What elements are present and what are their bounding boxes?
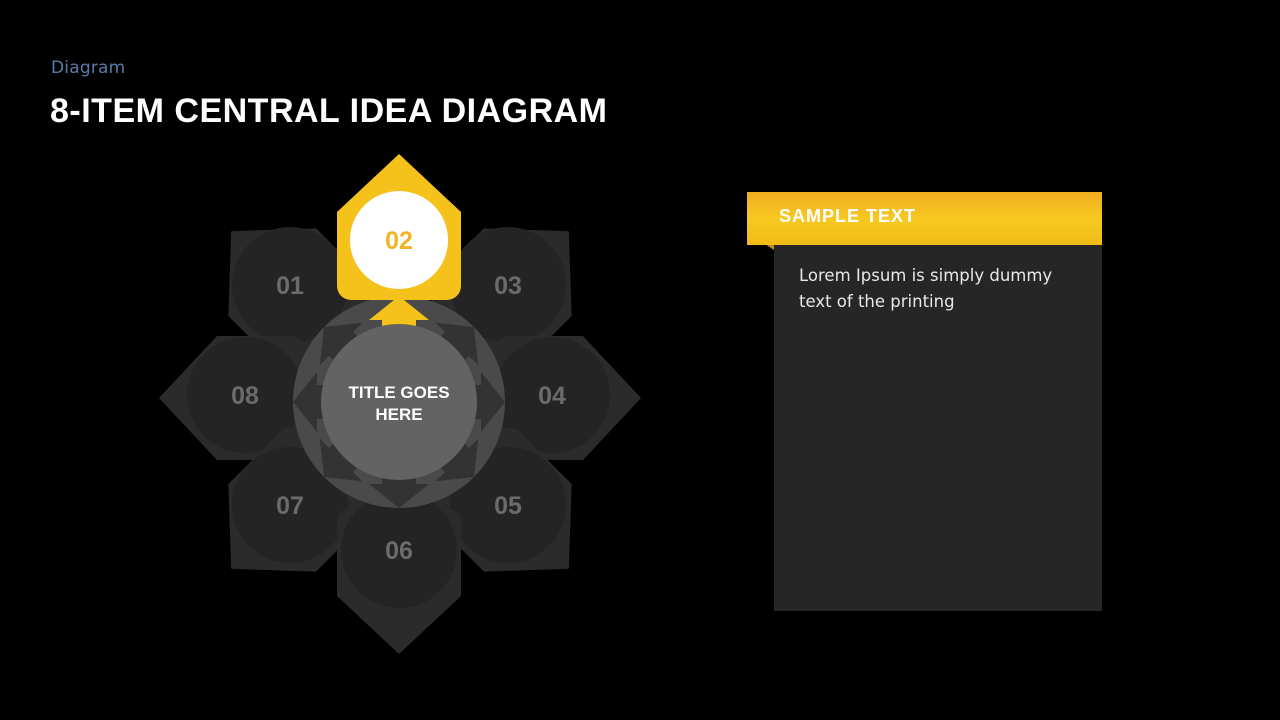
node-number-02: 02 bbox=[385, 227, 413, 255]
diagram-hub: TITLE GOES HERE bbox=[293, 296, 505, 508]
node-number-01: 01 bbox=[276, 272, 304, 300]
node-number-04: 04 bbox=[538, 382, 566, 410]
hub-title-line2: HERE bbox=[375, 405, 422, 424]
card-heading: SAMPLE TEXT bbox=[779, 206, 916, 227]
card-body-text: Lorem Ipsum is simply dummy text of the … bbox=[799, 263, 1079, 315]
eyebrow-label: Diagram bbox=[51, 58, 125, 78]
hub-title-line1: TITLE GOES bbox=[348, 383, 449, 402]
card-header-banner: SAMPLE TEXT bbox=[747, 192, 1102, 245]
diagram-node-02[interactable]: 02 bbox=[337, 154, 461, 300]
slide-canvas: Diagram 8-ITEM CENTRAL IDEA DIAGRAM bbox=[0, 0, 1280, 720]
sample-text-card: SAMPLE TEXT Lorem Ipsum is simply dummy … bbox=[774, 192, 1102, 611]
node-number-03: 03 bbox=[494, 272, 522, 300]
diagram-nodes: 01 03 08 bbox=[159, 154, 641, 654]
diagram-node-06[interactable]: 06 bbox=[337, 492, 461, 654]
node-number-07: 07 bbox=[276, 492, 304, 520]
page-title: 8-ITEM CENTRAL IDEA DIAGRAM bbox=[50, 92, 608, 131]
node-number-08: 08 bbox=[231, 382, 259, 410]
card-body-panel[interactable]: Lorem Ipsum is simply dummy text of the … bbox=[774, 245, 1102, 611]
node-number-06: 06 bbox=[385, 537, 413, 565]
hub-circle bbox=[321, 324, 477, 480]
central-idea-diagram: 01 03 08 bbox=[140, 140, 660, 660]
node-number-05: 05 bbox=[494, 492, 522, 520]
